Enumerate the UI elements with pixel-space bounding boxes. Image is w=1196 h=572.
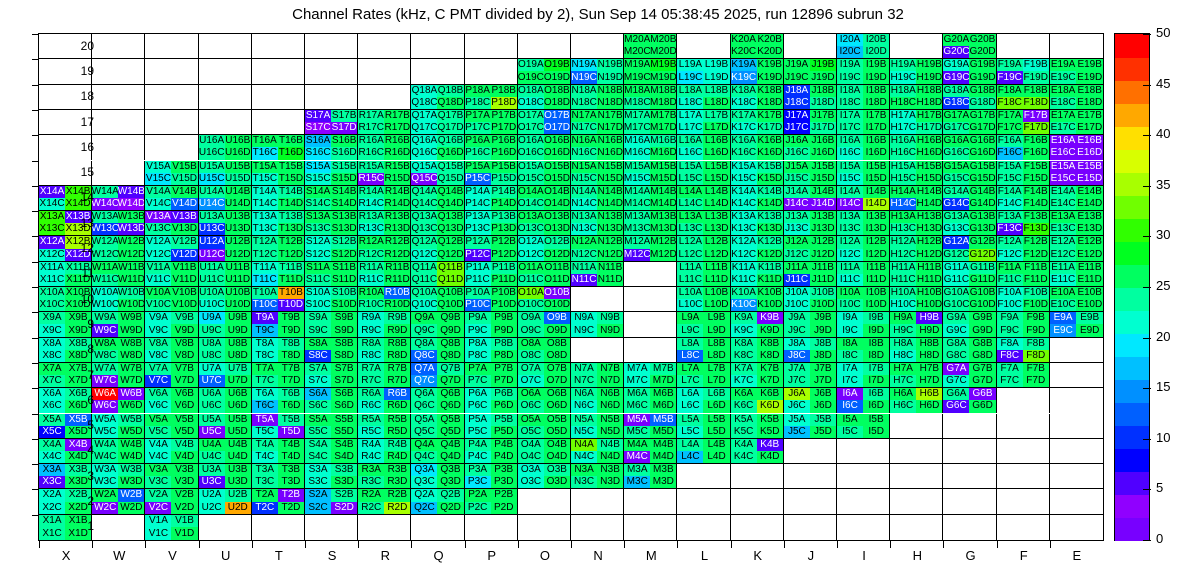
channel-pad: R2B xyxy=(384,489,410,501)
cell-subrow-bottom: M6CM6D xyxy=(624,400,676,412)
channel-pad: E14A xyxy=(1050,186,1077,198)
cell-subrow-bottom: J14CJ14D xyxy=(784,198,836,210)
channel-pad-empty xyxy=(491,59,517,71)
channel-pad: J6C xyxy=(784,400,810,412)
channel-pad: T3A xyxy=(252,464,278,476)
grid-cell xyxy=(92,85,145,110)
grid-cell: F11AF11BF11CF11D xyxy=(997,262,1050,287)
cell-subrow-bottom: J5CJ5D xyxy=(784,426,836,438)
channel-pad: N19B xyxy=(597,59,623,71)
cell-subrow-bottom: N9CN9D xyxy=(571,324,623,336)
channel-pad: Q18D xyxy=(437,97,463,109)
channel-pad: T13B xyxy=(278,211,304,223)
grid-cell: V2AV2BV2CV2D xyxy=(145,489,198,514)
grid-cell: Q13AQ13BQ13CQ13D xyxy=(411,211,464,236)
grid-cell: F17AF17BF17CF17D xyxy=(997,110,1050,135)
cell-subrow-top xyxy=(997,439,1049,451)
heatmap-grid: M20AM20BM20CM20DK20AK20BK20CK20DI20AI20B… xyxy=(39,34,1103,540)
channel-pad-empty xyxy=(624,350,650,362)
channel-pad: J6B xyxy=(810,388,836,400)
cell-subrow-top: Q5AQ5B xyxy=(411,414,463,426)
channel-pad: X3A xyxy=(39,464,65,476)
channel-pad: F9A xyxy=(997,312,1023,324)
channel-pad: W4C xyxy=(92,451,118,463)
cell-subrow-bottom: V5CV5D xyxy=(145,426,197,438)
x-axis-label: V xyxy=(146,548,199,563)
cell-subrow-bottom: J13CJ13D xyxy=(784,223,836,235)
cell-subrow-top: H19AH19B xyxy=(890,59,942,71)
channel-pad-empty xyxy=(837,439,863,451)
cell-subrow-top: S15AS15B xyxy=(305,161,357,173)
channel-pad: F10B xyxy=(1023,287,1049,299)
channel-pad: Q5A xyxy=(411,414,437,426)
channel-pad: N13C xyxy=(571,223,597,235)
channel-pad-empty xyxy=(597,287,623,299)
cell-subrow-top: V15AV15B xyxy=(145,161,197,173)
grid-cell: T8AT8BT8CT8D xyxy=(252,338,305,363)
y-axis-tick xyxy=(32,414,38,415)
channel-pad-empty xyxy=(890,476,916,488)
channel-pad: F19B xyxy=(1023,59,1049,71)
channel-pad: O14B xyxy=(544,186,570,198)
channel-pad: O7D xyxy=(544,375,570,387)
channel-pad: Q2A xyxy=(411,489,437,501)
cell-subrow-top: T12AT12B xyxy=(252,236,304,248)
channel-pad: K12A xyxy=(731,236,757,248)
cell-subrow-top: K12AK12B xyxy=(731,236,783,248)
cell-subrow-top: W6AW6B xyxy=(92,388,144,400)
channel-pad: W10B xyxy=(118,287,144,299)
channel-pad: F15A xyxy=(997,161,1023,173)
channel-pad-empty xyxy=(969,426,995,438)
cell-subrow-top: R9AR9B xyxy=(358,312,410,324)
cell-subrow-bottom: R14CR14D xyxy=(358,198,410,210)
channel-pad: P13B xyxy=(491,211,517,223)
channel-pad-empty xyxy=(677,464,703,476)
cell-subrow-bottom: G14CG14D xyxy=(943,198,995,210)
channel-pad: T3D xyxy=(278,476,304,488)
channel-pad: S12B xyxy=(331,236,357,248)
grid-cell: E11AE11BE11CE11D xyxy=(1050,262,1103,287)
channel-pad: N15D xyxy=(597,173,623,185)
grid-cell: L17AL17BL17CL17D xyxy=(677,110,730,135)
grid-cell: U7AU7BU7CU7D xyxy=(199,363,252,388)
grid-cell: P7AP7BP7CP7D xyxy=(465,363,518,388)
cell-subrow-top: I20AI20B xyxy=(837,34,889,46)
channel-pad: P15A xyxy=(465,161,491,173)
grid-cell: W10AW10BW10CW10D xyxy=(92,287,145,312)
channel-pad-empty xyxy=(411,34,437,46)
channel-pad: P11C xyxy=(465,274,491,286)
channel-pad: I11D xyxy=(863,274,889,286)
channel-pad: U16D xyxy=(225,147,251,159)
channel-pad: O12A xyxy=(518,236,544,248)
grid-cell xyxy=(305,59,358,84)
channel-pad: T14C xyxy=(252,198,278,210)
channel-pad: W11C xyxy=(92,274,118,286)
channel-pad-empty xyxy=(650,527,676,540)
channel-pad: F7B xyxy=(1023,363,1049,375)
channel-pad: V12C xyxy=(145,249,171,261)
cell-subrow-bottom: E9CE9D xyxy=(1050,324,1103,336)
channel-pad-empty xyxy=(145,34,171,46)
channel-pad: N12C xyxy=(571,249,597,261)
channel-pad: J6D xyxy=(810,400,836,412)
cell-subrow-top: W3AW3B xyxy=(92,464,144,476)
channel-pad: J8B xyxy=(810,338,836,350)
channel-pad: T12B xyxy=(278,236,304,248)
channel-pad: F12D xyxy=(1023,249,1049,261)
channel-pad: E13A xyxy=(1050,211,1077,223)
channel-pad-empty xyxy=(571,34,597,46)
channel-pad: J8C xyxy=(784,350,810,362)
y-axis-label: 4 xyxy=(66,443,94,457)
cell-subrow-top: V7AV7B xyxy=(145,363,197,375)
channel-pad: O15B xyxy=(544,161,570,173)
channel-pad: M3B xyxy=(650,464,676,476)
grid-cell: H6AH6BH6CH6D xyxy=(890,388,943,413)
grid-cell: T9AT9BT9CT9D xyxy=(252,312,305,337)
cell-subrow-top: J10AJ10B xyxy=(784,287,836,299)
cell-subrow-top xyxy=(624,262,676,274)
grid-cell: L13AL13BL13CL13D xyxy=(677,211,730,236)
channel-pad: R6A xyxy=(358,388,384,400)
cell-subrow-top: M13AM13B xyxy=(624,211,676,223)
channel-pad: J7A xyxy=(784,363,810,375)
cell-subrow-bottom: H18CH18D xyxy=(890,97,942,109)
channel-pad: W3A xyxy=(92,464,118,476)
channel-pad: K9C xyxy=(731,324,757,336)
channel-pad-empty xyxy=(916,414,942,426)
cell-subrow-bottom xyxy=(518,527,570,540)
channel-pad-empty xyxy=(465,71,491,83)
channel-pad-empty xyxy=(624,515,650,528)
channel-pad-empty xyxy=(916,476,942,488)
channel-pad: X14A xyxy=(39,186,65,198)
channel-pad: V9B xyxy=(171,312,197,324)
cell-subrow-top xyxy=(997,489,1049,501)
channel-pad: T12D xyxy=(278,249,304,261)
cell-subrow-bottom xyxy=(199,71,251,83)
channel-pad: U11C xyxy=(199,274,225,286)
cell-subrow-top: Q6AQ6B xyxy=(411,388,463,400)
channel-pad: O18B xyxy=(544,85,570,97)
channel-pad: T16C xyxy=(252,147,278,159)
grid-cell xyxy=(677,34,730,59)
grid-cell: N18AN18BN18CN18D xyxy=(571,85,624,110)
channel-pad-empty xyxy=(39,59,65,71)
grid-cell: L8AL8BL8CL8D xyxy=(677,338,730,363)
channel-pad-empty xyxy=(597,527,623,540)
cell-subrow-top xyxy=(571,338,623,350)
channel-pad: G19D xyxy=(969,71,995,83)
channel-pad-empty xyxy=(1076,363,1103,375)
channel-pad: U14D xyxy=(225,198,251,210)
cell-subrow-top: J9AJ9B xyxy=(784,312,836,324)
grid-cell xyxy=(92,34,145,59)
channel-pad-empty xyxy=(916,464,942,476)
cell-subrow-top xyxy=(1050,515,1103,528)
grid-cell: P15AP15BP15CP15D xyxy=(465,161,518,186)
channel-pad: U7A xyxy=(199,363,225,375)
grid-cell: I6AI6BI6CI6D xyxy=(837,388,890,413)
cell-subrow-top: L15AL15B xyxy=(677,161,729,173)
channel-pad: V11A xyxy=(145,262,171,274)
channel-pad-empty xyxy=(916,489,942,501)
grid-cell: L15AL15BL15CL15D xyxy=(677,161,730,186)
grid-cell: R3AR3BR3CR3D xyxy=(358,464,411,489)
channel-pad: Q12A xyxy=(411,236,437,248)
channel-pad: J11B xyxy=(810,262,836,274)
channel-pad-empty xyxy=(810,476,836,488)
cell-subrow-bottom: J16CJ16D xyxy=(784,147,836,159)
colorbar-segment xyxy=(1115,103,1149,127)
channel-pad-empty xyxy=(890,527,916,540)
channel-pad-empty xyxy=(890,451,916,463)
cell-subrow-bottom: S6CS6D xyxy=(305,400,357,412)
channel-pad-empty xyxy=(571,489,597,501)
grid-cell: L12AL12BL12CL12D xyxy=(677,236,730,261)
cell-subrow-top: S5AS5B xyxy=(305,414,357,426)
channel-pad: J11A xyxy=(784,262,810,274)
channel-pad: E18A xyxy=(1050,85,1077,97)
channel-pad: U6C xyxy=(199,400,225,412)
channel-pad: N13A xyxy=(571,211,597,223)
channel-pad-empty xyxy=(597,489,623,501)
channel-pad: G9B xyxy=(969,312,995,324)
channel-pad-empty xyxy=(1076,464,1103,476)
colorbar-segment xyxy=(1115,517,1149,541)
cell-subrow-bottom: R17CR17D xyxy=(358,122,410,134)
channel-pad: I12C xyxy=(837,249,863,261)
x-axis-tick xyxy=(92,541,93,548)
channel-pad: V13A xyxy=(145,211,171,223)
channel-pad: R10B xyxy=(384,287,410,299)
grid-cell: W3AW3BW3CW3D xyxy=(92,464,145,489)
grid-cell: P4AP4BP4CP4D xyxy=(465,439,518,464)
channel-pad: H13D xyxy=(916,223,942,235)
channel-pad-empty xyxy=(92,161,118,173)
cell-subrow-top: F19AF19B xyxy=(997,59,1049,71)
channel-pad: X1A xyxy=(39,515,65,528)
channel-pad: H13C xyxy=(890,223,916,235)
cell-subrow-bottom xyxy=(92,173,144,185)
cell-subrow-top xyxy=(997,388,1049,400)
grid-cell: U13AU13BU13CU13D xyxy=(199,211,252,236)
cell-subrow-bottom: N15CN15D xyxy=(571,173,623,185)
channel-pad: R6B xyxy=(384,388,410,400)
channel-pad: S13B xyxy=(331,211,357,223)
channel-pad: H16D xyxy=(916,147,942,159)
channel-pad: M4B xyxy=(650,439,676,451)
cell-subrow-top: L13AL13B xyxy=(677,211,729,223)
channel-pad: K17C xyxy=(731,122,757,134)
channel-pad: I14D xyxy=(863,198,889,210)
grid-cell xyxy=(624,312,677,337)
channel-pad-empty xyxy=(1076,426,1103,438)
cell-subrow-top: Q17AQ17B xyxy=(411,110,463,122)
channel-pad-empty xyxy=(863,515,889,528)
x-axis-label: U xyxy=(199,548,252,563)
grid-cell: O14AO14BO14CO14D xyxy=(518,186,571,211)
x-axis-tick xyxy=(677,541,678,548)
channel-pad: O16D xyxy=(544,147,570,159)
cell-subrow-top xyxy=(784,515,836,528)
cell-subrow-bottom: L14CL14D xyxy=(677,198,729,210)
cell-subrow-bottom: T10CT10D xyxy=(252,299,304,311)
grid-cell: N11AN11BN11CN11D xyxy=(571,262,624,287)
cell-subrow-top xyxy=(199,515,251,528)
channel-pad: E10A xyxy=(1050,287,1077,299)
grid-cell: I11AI11BI11CI11D xyxy=(837,262,890,287)
channel-pad: L18D xyxy=(703,97,729,109)
cell-subrow-bottom xyxy=(890,502,942,514)
grid-cell: I20AI20BI20CI20D xyxy=(837,34,890,59)
cell-subrow-top: S16AS16B xyxy=(305,135,357,147)
channel-pad: K4C xyxy=(731,451,757,463)
grid-cell xyxy=(997,464,1050,489)
cell-subrow-bottom xyxy=(731,502,783,514)
channel-pad: P13D xyxy=(491,223,517,235)
cell-subrow-bottom: R5CR5D xyxy=(358,426,410,438)
cell-subrow-top xyxy=(92,161,144,173)
channel-pad: J10A xyxy=(784,287,810,299)
grid-cell xyxy=(997,489,1050,514)
channel-pad: V4D xyxy=(171,451,197,463)
channel-pad: L4A xyxy=(677,439,703,451)
channel-pad: E13B xyxy=(1076,211,1103,223)
channel-pad: S7C xyxy=(305,375,331,387)
grid-cell: K7AK7BK7CK7D xyxy=(731,363,784,388)
cell-subrow-bottom xyxy=(677,46,729,58)
channel-pad-empty xyxy=(943,515,969,528)
cell-subrow-bottom: H14CH14D xyxy=(890,198,942,210)
channel-pad: T8B xyxy=(278,338,304,350)
grid-cell: G17AG17BG17CG17D xyxy=(943,110,996,135)
channel-pad: K4A xyxy=(731,439,757,451)
grid-cell: K18AK18BK18CK18D xyxy=(731,85,784,110)
channel-pad: M7B xyxy=(650,363,676,375)
channel-pad: V10A xyxy=(145,287,171,299)
channel-pad: L11B xyxy=(703,262,729,274)
channel-pad: F18C xyxy=(997,97,1023,109)
grid-cell xyxy=(1050,414,1103,439)
channel-pad-empty xyxy=(145,147,171,159)
channel-pad: I8C xyxy=(837,350,863,362)
channel-pad: G11C xyxy=(943,274,969,286)
channel-pad-empty xyxy=(650,502,676,514)
grid-cell: U12AU12BU12CU12D xyxy=(199,236,252,261)
cell-subrow-top: K15AK15B xyxy=(731,161,783,173)
channel-pad-empty xyxy=(171,97,197,109)
grid-cell: J12AJ12BJ12CJ12D xyxy=(784,236,837,261)
cell-subrow-top xyxy=(92,59,144,71)
channel-pad-empty xyxy=(1050,439,1077,451)
channel-pad-empty xyxy=(969,502,995,514)
channel-pad: K18A xyxy=(731,85,757,97)
channel-pad: R9A xyxy=(358,312,384,324)
channel-pad: I13D xyxy=(863,223,889,235)
channel-pad: T4C xyxy=(252,451,278,463)
channel-pad: K20B xyxy=(757,34,783,46)
channel-pad: V14A xyxy=(145,186,171,198)
grid-cell: M18AM18BM18CM18D xyxy=(624,85,677,110)
channel-pad: O15A xyxy=(518,161,544,173)
grid-cell: K20AK20BK20CK20D xyxy=(731,34,784,59)
channel-pad: K15B xyxy=(757,161,783,173)
channel-pad: Q4A xyxy=(411,439,437,451)
channel-pad: R17C xyxy=(358,122,384,134)
channel-pad: O10D xyxy=(544,299,570,311)
cell-subrow-bottom: O18CO18D xyxy=(518,97,570,109)
cell-subrow-bottom: V7CV7D xyxy=(145,375,197,387)
cell-subrow-bottom: Q2CQ2D xyxy=(411,502,463,514)
cell-subrow-bottom xyxy=(943,527,995,540)
channel-pad-empty xyxy=(837,527,863,540)
channel-pad: U9B xyxy=(225,312,251,324)
grid-cell: H13AH13BH13CH13D xyxy=(890,211,943,236)
channel-pad: N13B xyxy=(597,211,623,223)
cell-subrow-bottom: S12CS12D xyxy=(305,249,357,261)
x-axis-label: F xyxy=(997,548,1050,563)
channel-pad: R9C xyxy=(358,324,384,336)
cell-subrow-bottom: M14CM14D xyxy=(624,198,676,210)
channel-pad: O16B xyxy=(544,135,570,147)
cell-subrow-top xyxy=(358,515,410,528)
cell-subrow-bottom: Q9CQ9D xyxy=(411,324,463,336)
channel-pad-empty xyxy=(997,388,1023,400)
cell-subrow-bottom: Q8CQ8D xyxy=(411,350,463,362)
cell-subrow-bottom: P11CP11D xyxy=(465,274,517,286)
channel-pad: W4A xyxy=(92,439,118,451)
cell-subrow-bottom: O9CO9D xyxy=(518,324,570,336)
channel-pad: U5C xyxy=(199,426,225,438)
channel-pad: V15D xyxy=(171,173,197,185)
channel-pad-empty xyxy=(171,34,197,46)
channel-pad: S17A xyxy=(305,110,331,122)
grid-cell: S3AS3BS3CS3D xyxy=(305,464,358,489)
channel-pad: K20C xyxy=(731,46,757,58)
cell-subrow-top xyxy=(518,34,570,46)
channel-pad: G10C xyxy=(943,299,969,311)
grid-cell: P10AP10BP10CP10D xyxy=(465,287,518,312)
colorbar-segment xyxy=(1115,241,1149,265)
channel-pad: X8A xyxy=(39,338,65,350)
cell-subrow-bottom xyxy=(358,46,410,58)
channel-pad: E13C xyxy=(1050,223,1077,235)
channel-pad: N14C xyxy=(571,198,597,210)
channel-pad: O17D xyxy=(544,122,570,134)
channel-pad: N19A xyxy=(571,59,597,71)
channel-pad: P17C xyxy=(465,122,491,134)
channel-pad: L13D xyxy=(703,223,729,235)
cell-subrow-bottom: G15CG15D xyxy=(943,173,995,185)
channel-pad: M17B xyxy=(650,110,676,122)
cell-subrow-top xyxy=(731,515,783,528)
channel-pad-empty xyxy=(890,515,916,528)
grid-cell xyxy=(1050,439,1103,464)
channel-pad-empty xyxy=(863,489,889,501)
channel-pad: J5A xyxy=(784,414,810,426)
channel-pad-empty xyxy=(890,489,916,501)
grid-cell: V5AV5BV5CV5D xyxy=(145,414,198,439)
channel-pad: J15D xyxy=(810,173,836,185)
channel-pad: K14C xyxy=(731,198,757,210)
channel-pad: R10D xyxy=(384,299,410,311)
cell-subrow-bottom: V10CV10D xyxy=(145,299,197,311)
cell-subrow-top: J19AJ19B xyxy=(784,59,836,71)
channel-pad-empty xyxy=(650,350,676,362)
